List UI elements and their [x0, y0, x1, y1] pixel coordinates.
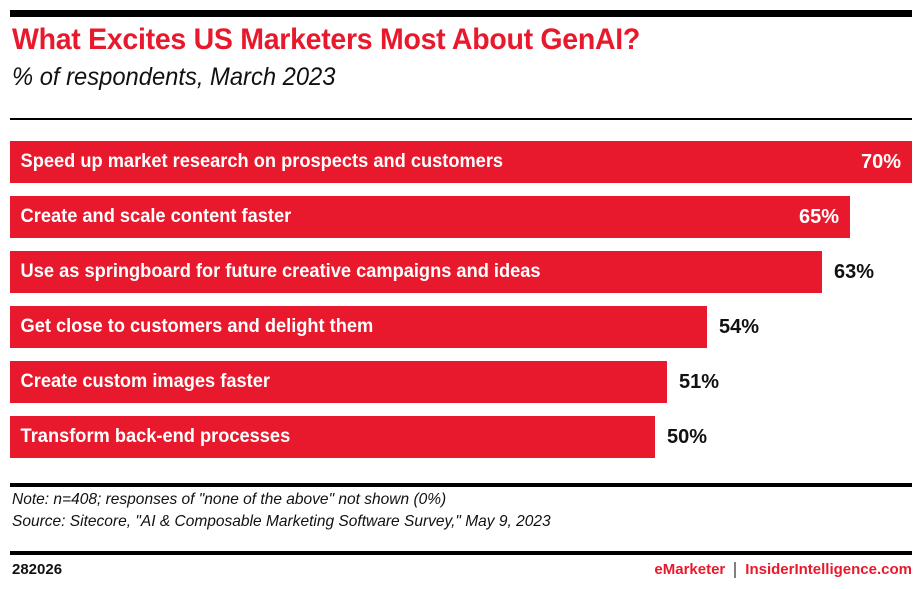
bar-row: Get close to customers and delight them … — [10, 306, 912, 348]
chart-notes: Note: n=408; responses of "none of the a… — [12, 489, 912, 533]
chart-sheet: What Excites US Marketers Most About Gen… — [0, 0, 922, 589]
chart-header: What Excites US Marketers Most About Gen… — [12, 22, 912, 92]
source-text: Source: Sitecore, "AI & Composable Marke… — [12, 511, 885, 533]
brand-lockup: eMarketer InsiderIntelligence.com — [654, 561, 912, 578]
bar-value-label: 70% — [861, 141, 901, 183]
bar-value-label: 63% — [834, 251, 874, 293]
bar-value-label: 65% — [799, 196, 839, 238]
bar-row: Speed up market research on prospects an… — [10, 141, 912, 183]
note-divider-rule — [10, 483, 912, 487]
bar-row: Use as springboard for future creative c… — [10, 251, 912, 293]
bar-category-label: Create custom images faster — [10, 361, 270, 403]
bar-category-label: Get close to customers and delight them — [10, 306, 373, 348]
header-divider-rule — [10, 118, 912, 120]
chart-subtitle: % of respondents, March 2023 — [12, 62, 867, 92]
bar-category-label: Use as springboard for future creative c… — [10, 251, 541, 293]
chart-title: What Excites US Marketers Most About Gen… — [12, 22, 867, 58]
bar-create-and-scale-content: Create and scale content faster 65% — [10, 196, 850, 238]
bar-row: Transform back-end processes 50% — [10, 416, 912, 458]
bar-transform-back-end-processes: Transform back-end processes — [10, 416, 655, 458]
top-rule — [10, 10, 912, 17]
brand-insiderintelligence: InsiderIntelligence.com — [745, 561, 912, 578]
bar-category-label: Create and scale content faster — [10, 196, 291, 238]
note-text: Note: n=408; responses of "none of the a… — [12, 489, 885, 511]
bar-chart-plot: Speed up market research on prospects an… — [10, 141, 912, 473]
bar-get-close-to-customers: Get close to customers and delight them — [10, 306, 707, 348]
bar-category-label: Transform back-end processes — [10, 416, 290, 458]
bar-value-label: 50% — [667, 416, 707, 458]
bar-springboard-creative-campaigns: Use as springboard for future creative c… — [10, 251, 822, 293]
brand-divider-icon — [734, 562, 736, 578]
bar-row: Create custom images faster 51% — [10, 361, 912, 403]
bar-value-label: 51% — [679, 361, 719, 403]
bar-row: Create and scale content faster 65% — [10, 196, 912, 238]
bar-category-label: Speed up market research on prospects an… — [10, 141, 503, 183]
bar-speed-up-market-research: Speed up market research on prospects an… — [10, 141, 912, 183]
bar-value-label: 54% — [719, 306, 759, 348]
footer-rule — [10, 551, 912, 555]
brand-emarketer: eMarketer — [654, 561, 725, 578]
bar-create-custom-images: Create custom images faster — [10, 361, 667, 403]
chart-footer: 282026 eMarketer InsiderIntelligence.com — [12, 561, 912, 578]
chart-id: 282026 — [12, 561, 62, 578]
